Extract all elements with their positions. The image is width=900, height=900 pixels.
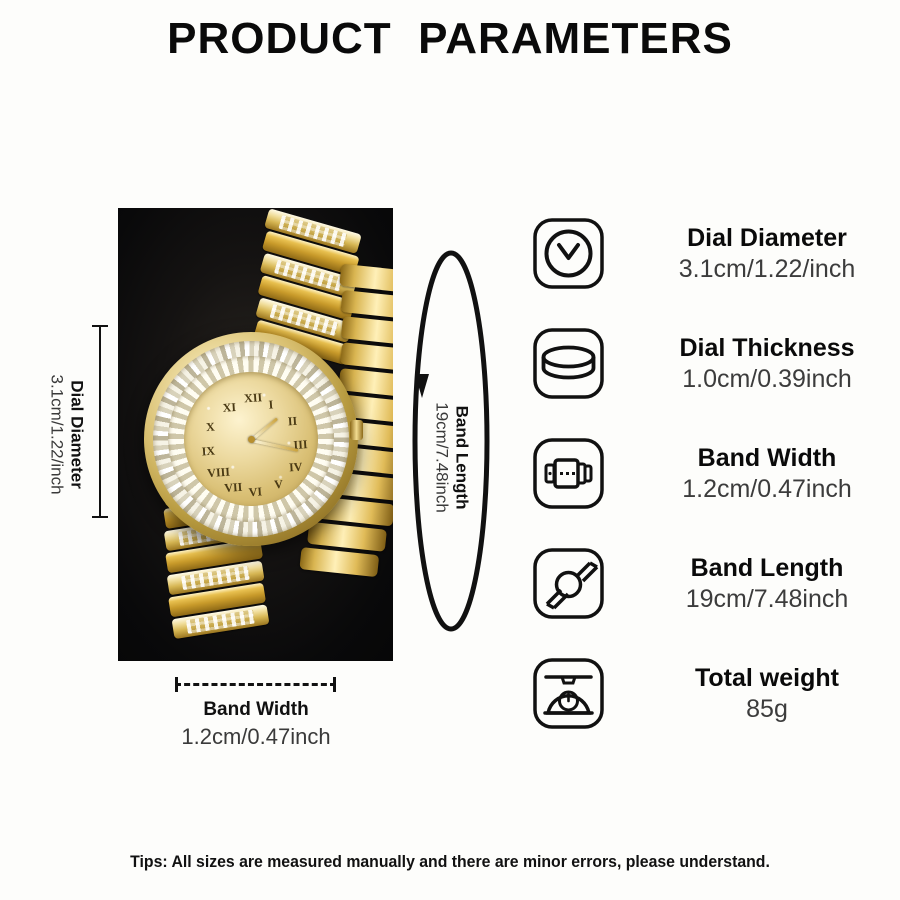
spec-text-band-length: Band Length 19cm/7.48inch xyxy=(652,553,882,614)
watch-crown xyxy=(350,420,363,440)
spec-text-band-width: Band Width 1.2cm/0.47inch xyxy=(652,443,882,504)
dial-diameter-annotation: Dial Diameter 3.1cm/1.22/inch xyxy=(47,335,86,535)
measure-cap-right xyxy=(333,677,336,692)
spec-value: 19cm/7.48inch xyxy=(652,584,882,615)
dial-diameter-annotation-value: 3.1cm/1.22/inch xyxy=(47,335,67,535)
spec-label: Band Length xyxy=(652,553,882,584)
spec-row-total-weight: Total weight 85g xyxy=(531,656,882,731)
band-width-measure-line xyxy=(175,677,336,691)
watch-top-view-icon xyxy=(531,546,606,621)
watch-face-clock-icon xyxy=(531,216,606,291)
product-parameters-page: PRODUCT PARAMETERS xyxy=(0,0,900,900)
spec-label: Dial Diameter xyxy=(652,223,882,254)
spec-value: 1.2cm/0.47inch xyxy=(652,474,882,505)
band-width-annotation-value: 1.2cm/0.47inch xyxy=(120,723,392,752)
spec-row-dial-diameter: Dial Diameter 3.1cm/1.22/inch xyxy=(531,216,882,291)
tips-note: Tips: All sizes are measured manually an… xyxy=(32,852,869,872)
disc-thickness-icon xyxy=(531,326,606,401)
spec-value: 3.1cm/1.22/inch xyxy=(652,254,882,285)
band-length-annotation: Band Length 19cm/7.48inch xyxy=(432,328,471,588)
spec-row-dial-thickness: Dial Thickness 1.0cm/0.39inch xyxy=(531,326,882,401)
spec-text-total-weight: Total weight 85g xyxy=(652,663,882,724)
dial-center-pin xyxy=(247,435,254,442)
dial-diameter-measure-bar xyxy=(99,325,101,518)
band-length-annotation-value: 19cm/7.48inch xyxy=(432,328,452,588)
band-buckle-icon xyxy=(531,436,606,511)
spec-value: 85g xyxy=(652,694,882,725)
dial-diameter-annotation-label: Dial Diameter xyxy=(67,335,87,535)
spec-label: Dial Thickness xyxy=(652,333,882,364)
spec-row-band-width: Band Width 1.2cm/0.47inch xyxy=(531,436,882,511)
spec-row-band-length: Band Length 19cm/7.48inch xyxy=(531,546,882,621)
page-title: PRODUCT PARAMETERS xyxy=(0,14,900,64)
spec-label: Band Width xyxy=(652,443,882,474)
spec-label: Total weight xyxy=(652,663,882,694)
kitchen-scale-icon xyxy=(531,656,606,731)
band-width-annotation: Band Width 1.2cm/0.47inch xyxy=(120,698,392,751)
band-length-annotation-label: Band Length xyxy=(452,328,472,588)
spec-text-dial-diameter: Dial Diameter 3.1cm/1.22/inch xyxy=(652,223,882,284)
band-width-annotation-label: Band Width xyxy=(120,698,392,723)
spec-value: 1.0cm/0.39inch xyxy=(652,364,882,395)
measure-dashes xyxy=(175,683,336,686)
product-photo: XII I II III IV V VI VII VIII IX X XI xyxy=(118,208,393,661)
spec-text-dial-thickness: Dial Thickness 1.0cm/0.39inch xyxy=(652,333,882,394)
